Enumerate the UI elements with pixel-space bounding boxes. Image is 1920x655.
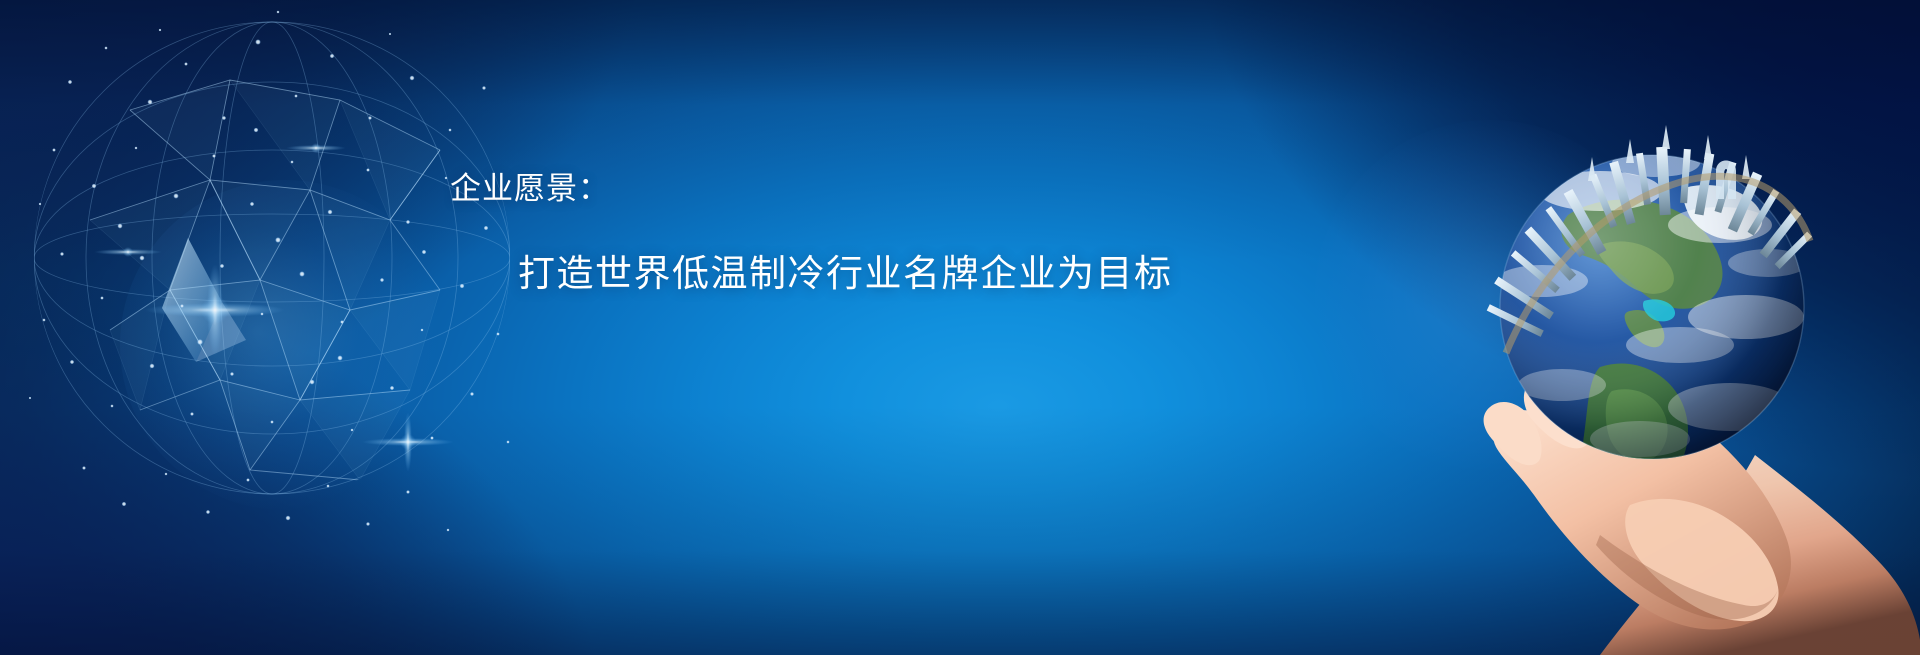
vision-banner: 企业愿景： 打造世界低温制冷行业名牌企业为目标 bbox=[0, 0, 1920, 655]
background-vignette bbox=[0, 0, 1920, 655]
